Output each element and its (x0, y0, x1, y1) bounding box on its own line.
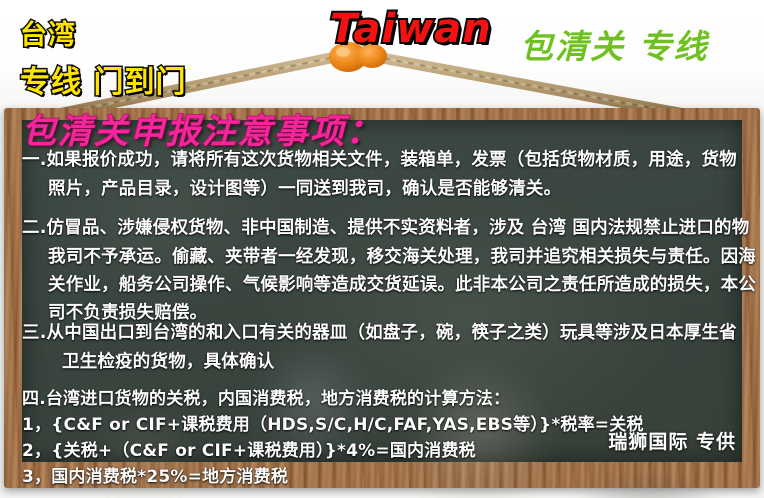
board-item-2-line-1: 二.仿冒品、涉嫌侵权货物、非中国制造、提供不实资料者，涉及 台湾 国内法规禁止进… (22, 214, 749, 239)
board-item-1-line-2: 照片，产品目录，设计图等）一同送到我司，确认是否能够清关。 (48, 175, 561, 200)
board-item-4-line-4: 3，国内消费税*25%=地方消费税 (22, 462, 288, 487)
board-title: 包清关申报注意事项： (22, 104, 382, 153)
english-region-label: Taiwan (330, 6, 492, 52)
region-label: 台湾 (20, 13, 76, 52)
supplier-watermark: 瑞狮国际 专供 (608, 427, 736, 454)
green-slogan-label: 包清关 专线 (520, 20, 709, 68)
board-item-2-line-2: 我司不予承运。偷藏、夹带者一经发现，移交海关处理，我司并追究相关损失与责任。因海 (48, 243, 756, 268)
board-item-4-line-2: 1，{C&F or CIF+课税费用（HDS,S/C,H/C,FAF,YAS,E… (22, 410, 644, 435)
board-item-3-line-1: 三.从中国出口到台湾的和入口有关的器皿（如盘子，碗，筷子之类）玩具等涉及日本厚生… (22, 319, 737, 344)
board-item-4-line-1: 四.台湾进口货物的关税，内国消费税，地方消费税的计算方法： (22, 384, 510, 409)
top-banner: 台湾 专线 门到门 Taiwan 包清关 专线 (0, 0, 764, 112)
board-item-4-line-3: 2，{关税+（C&F or CIF+课税费用）}*4%=国内消费税 (22, 436, 476, 461)
board-item-2-line-3: 关作业，船务公司操作、气候影响等造成交货延误。此非本公司之责任所造成的损失，本公 (48, 271, 756, 296)
blackboard-wooden-frame: 一.如果报价成功，请将所有这次货物相关文件，装箱单，发票（包括货物材质，用途，货… (4, 108, 760, 488)
service-label: 专线 门到门 (20, 57, 186, 101)
taiwan-customs-clearance-poster: 台湾 专线 门到门 Taiwan 包清关 专线 一.如果报价成功，请将所有这次货… (0, 0, 764, 498)
board-item-3-line-2: 卫生检疫的货物，具体确认 (62, 348, 274, 373)
